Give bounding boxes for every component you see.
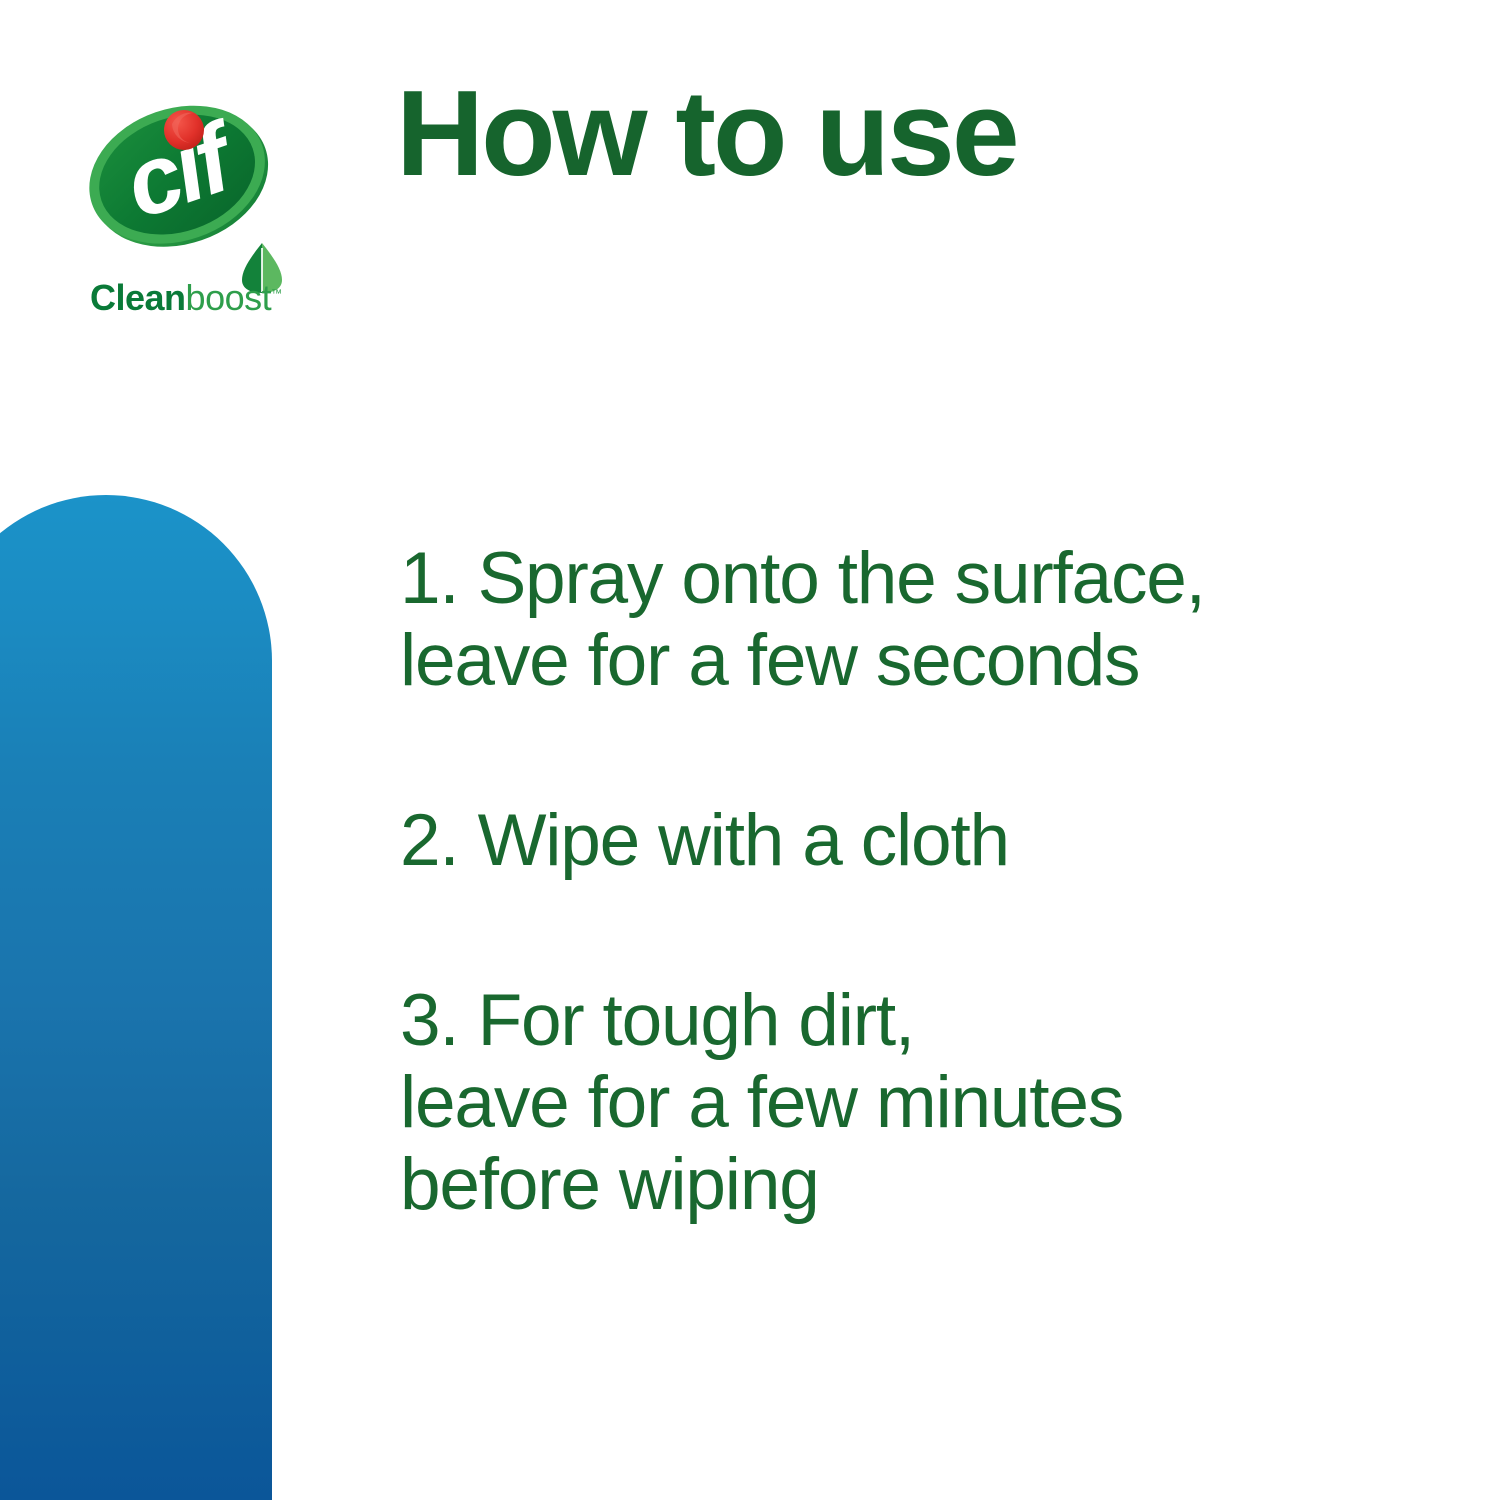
trademark-symbol: ™ xyxy=(271,288,282,300)
steps-list: 1. Spray onto the surface, leave for a f… xyxy=(400,538,1440,1226)
step-3-line-3: before wiping xyxy=(400,1144,1440,1226)
poster-canvas: cif Cleanboost™ How to use 1. Spray onto xyxy=(0,0,1500,1500)
step-1-line-2: leave for a few seconds xyxy=(400,620,1440,702)
step-1-line-1: 1. Spray onto the surface, xyxy=(400,538,1440,620)
cleanboost-clean-text: Clean xyxy=(90,277,186,318)
cleanboost-boost-text: boost xyxy=(186,277,272,318)
page-title: How to use xyxy=(396,72,1017,194)
step-item-1: 1. Spray onto the surface, leave for a f… xyxy=(400,538,1440,702)
step-3-line-2: leave for a few minutes xyxy=(400,1062,1440,1144)
step-2-line-1: 2. Wipe with a cloth xyxy=(400,800,1440,882)
cleanboost-sub-brand: Cleanboost™ xyxy=(90,270,300,318)
brand-logo-lockup: cif Cleanboost™ xyxy=(84,88,294,318)
cleanboost-wordmark: Cleanboost™ xyxy=(90,280,282,316)
step-item-3: 3. For tough dirt, leave for a few minut… xyxy=(400,980,1440,1226)
cif-logo-icon: cif xyxy=(84,88,274,263)
blue-decorative-panel xyxy=(0,495,272,1500)
step-3-line-1: 3. For tough dirt, xyxy=(400,980,1440,1062)
step-item-2: 2. Wipe with a cloth xyxy=(400,800,1440,882)
